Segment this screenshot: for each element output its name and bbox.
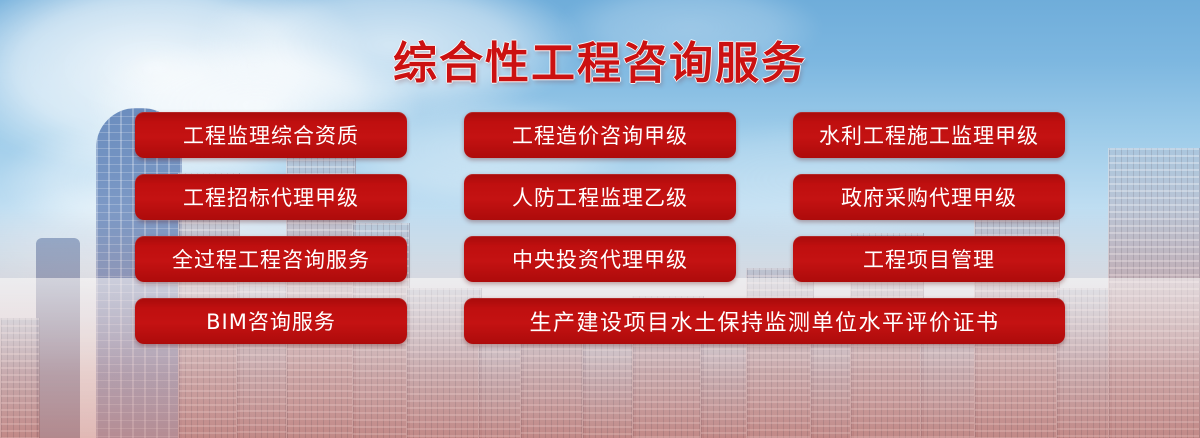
qualification-badge[interactable]: 人防工程监理乙级 xyxy=(464,174,736,220)
qualification-badge[interactable]: 工程项目管理 xyxy=(793,236,1065,282)
qualification-badge[interactable]: 政府采购代理甲级 xyxy=(793,174,1065,220)
qualification-badge[interactable]: 工程监理综合资质 xyxy=(135,112,407,158)
qualification-badge[interactable]: 水利工程施工监理甲级 xyxy=(793,112,1065,158)
qualification-badge[interactable]: BIM咨询服务 xyxy=(135,298,407,344)
qualification-grid: 工程监理综合资质 工程造价咨询甲级 水利工程施工监理甲级 工程招标代理甲级 人防… xyxy=(135,112,1065,344)
banner-content: 综合性工程咨询服务 工程监理综合资质 工程造价咨询甲级 水利工程施工监理甲级 工… xyxy=(0,0,1200,438)
qualification-badge[interactable]: 工程招标代理甲级 xyxy=(135,174,407,220)
qualification-badge[interactable]: 全过程工程咨询服务 xyxy=(135,236,407,282)
qualification-badge[interactable]: 中央投资代理甲级 xyxy=(464,236,736,282)
page-title: 综合性工程咨询服务 xyxy=(393,42,807,86)
qualification-badge[interactable]: 工程造价咨询甲级 xyxy=(464,112,736,158)
qualification-badge-wide[interactable]: 生产建设项目水土保持监测单位水平评价证书 xyxy=(464,298,1065,344)
qualification-banner: 综合性工程咨询服务 工程监理综合资质 工程造价咨询甲级 水利工程施工监理甲级 工… xyxy=(0,0,1200,438)
